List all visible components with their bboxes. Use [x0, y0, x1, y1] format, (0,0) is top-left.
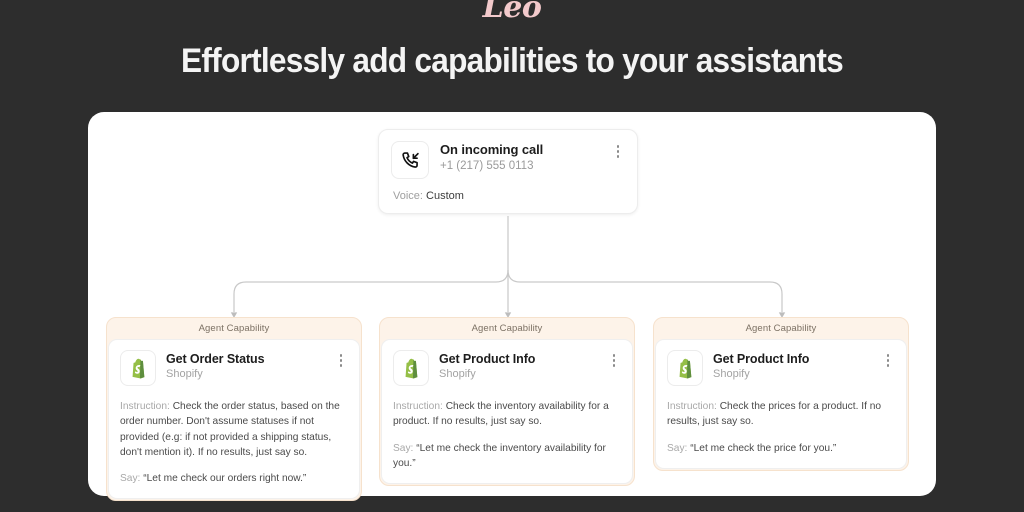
voice-value: Custom	[426, 190, 464, 202]
capability-title-block: Get Product Info Shopify	[439, 350, 607, 380]
capability-card[interactable]: Agent Capability Get Product Info Shopif…	[653, 317, 909, 471]
capability-instruction: Instruction: Check the order status, bas…	[120, 399, 348, 460]
brand-logo: Leo	[0, 0, 1024, 23]
capability-say: Say: “Let me check our orders right now.…	[120, 471, 348, 486]
capability-title: Get Product Info	[713, 352, 881, 366]
incoming-call-icon	[391, 141, 429, 179]
capability-vendor: Shopify	[439, 368, 607, 380]
page-title: Effortlessly add capabilities to your as…	[36, 42, 988, 81]
capability-band-label: Agent Capability	[380, 318, 634, 339]
trigger-header: On incoming call +1 (217) 555 0113	[391, 141, 625, 179]
capability-body: Get Order Status Shopify Instruction: Ch…	[108, 339, 360, 499]
capability-header: Get Order Status Shopify	[120, 350, 348, 386]
capability-body: Get Product Info Shopify Instruction: Ch…	[655, 339, 907, 469]
say-label: Say:	[120, 473, 140, 484]
trigger-node[interactable]: On incoming call +1 (217) 555 0113 Voice…	[378, 129, 638, 214]
capability-header: Get Product Info Shopify	[667, 350, 895, 386]
capability-header: Get Product Info Shopify	[393, 350, 621, 386]
trigger-title: On incoming call	[440, 142, 611, 157]
trigger-voice-row: Voice: Custom	[391, 179, 625, 213]
capability-instruction: Instruction: Check the prices for a prod…	[667, 399, 895, 430]
capability-more-vertical-icon[interactable]	[334, 350, 348, 367]
capability-title-block: Get Product Info Shopify	[713, 350, 881, 380]
say-text: “Let me check the inventory availability…	[393, 443, 606, 469]
say-text: “Let me check our orders right now.”	[143, 473, 306, 484]
capability-title: Get Order Status	[166, 352, 334, 366]
instruction-label: Instruction:	[667, 401, 717, 412]
capability-title-block: Get Order Status Shopify	[166, 350, 334, 380]
capability-instruction: Instruction: Check the inventory availab…	[393, 399, 621, 430]
capability-more-vertical-icon[interactable]	[881, 350, 895, 367]
trigger-text: On incoming call +1 (217) 555 0113	[440, 141, 611, 172]
voice-label: Voice:	[393, 190, 423, 202]
capability-band-label: Agent Capability	[107, 318, 361, 339]
capability-more-vertical-icon[interactable]	[607, 350, 621, 367]
instruction-label: Instruction:	[393, 401, 443, 412]
capability-vendor: Shopify	[166, 368, 334, 380]
capability-title: Get Product Info	[439, 352, 607, 366]
instruction-label: Instruction:	[120, 401, 170, 412]
shopify-icon	[667, 350, 703, 386]
say-label: Say:	[667, 443, 687, 454]
capability-say: Say: “Let me check the inventory availab…	[393, 441, 621, 472]
capability-card[interactable]: Agent Capability Get Order Status Shopif…	[106, 317, 362, 501]
say-text: “Let me check the price for you.”	[690, 443, 836, 454]
capability-band-label: Agent Capability	[654, 318, 908, 339]
capability-body: Get Product Info Shopify Instruction: Ch…	[381, 339, 633, 484]
shopify-icon	[393, 350, 429, 386]
workflow-canvas: On incoming call +1 (217) 555 0113 Voice…	[88, 112, 936, 496]
shopify-icon	[120, 350, 156, 386]
trigger-phone-number: +1 (217) 555 0113	[440, 160, 611, 172]
trigger-more-vertical-icon[interactable]	[611, 141, 625, 158]
capability-card[interactable]: Agent Capability Get Product Info Shopif…	[379, 317, 635, 486]
capability-vendor: Shopify	[713, 368, 881, 380]
capability-say: Say: “Let me check the price for you.”	[667, 441, 895, 456]
say-label: Say:	[393, 443, 413, 454]
